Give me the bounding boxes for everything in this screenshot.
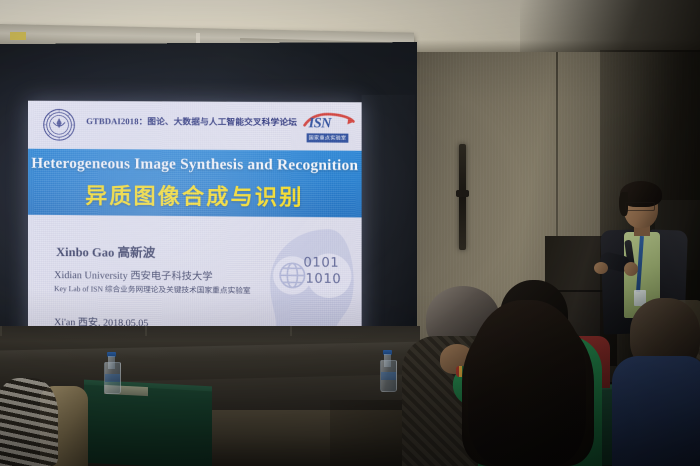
- isn-sub-label: 国家重点实验室: [307, 133, 349, 142]
- lower-back-wall-seams: [0, 326, 420, 336]
- slide-author: Xinbo Gao 高新波: [56, 241, 155, 261]
- wall-sconce: [459, 144, 466, 250]
- xidian-university-seal-icon: [42, 108, 76, 142]
- presenter-gesturing-hand: [594, 262, 608, 274]
- water-bottle: [380, 350, 395, 392]
- presenter-mic-hand: [624, 262, 638, 276]
- binary-text-line-2: 1010: [305, 272, 341, 288]
- slide-title-english: Heterogeneous Image Synthesis and Recogn…: [28, 155, 362, 175]
- audience-striped-shirt: [0, 378, 58, 466]
- audience-blue-shirt-body: [612, 356, 700, 466]
- projection-screen: GTBDAI2018：图论、大数据与人工智能交叉科学论坛 ISN 国家重点实验室…: [0, 42, 417, 352]
- water-bottle: [104, 352, 119, 394]
- conference-title: GTBDAI2018：图论、大数据与人工智能交叉科学论坛: [86, 115, 315, 128]
- slide-title-band: Heterogeneous Image Synthesis and Recogn…: [28, 149, 362, 218]
- roller-sticker: [10, 32, 26, 40]
- slide-affiliation: Xidian University 西安电子科技大学: [54, 266, 213, 283]
- binary-text-line-1: 0101: [303, 255, 339, 270]
- isn-wordmark: ISN: [309, 116, 331, 132]
- audience-long-hair-head: [468, 300, 586, 466]
- wall-sconce-bracket: [456, 190, 469, 197]
- slide-title-chinese: 异质图像合成与识别: [28, 178, 362, 213]
- slide-header: GTBDAI2018：图论、大数据与人工智能交叉科学论坛 ISN 国家重点实验室: [28, 101, 362, 151]
- presentation-photo-scene: GTBDAI2018：图论、大数据与人工智能交叉科学论坛 ISN 国家重点实验室…: [0, 0, 700, 466]
- table-left-skirt: [84, 385, 212, 466]
- slide: GTBDAI2018：图论、大数据与人工智能交叉科学论坛 ISN 国家重点实验室…: [28, 101, 362, 363]
- presenter-glasses: [625, 202, 655, 211]
- slide-lab: Key Lab of ISN 综合业务网理论及关键技术国家重点实验室: [54, 283, 251, 296]
